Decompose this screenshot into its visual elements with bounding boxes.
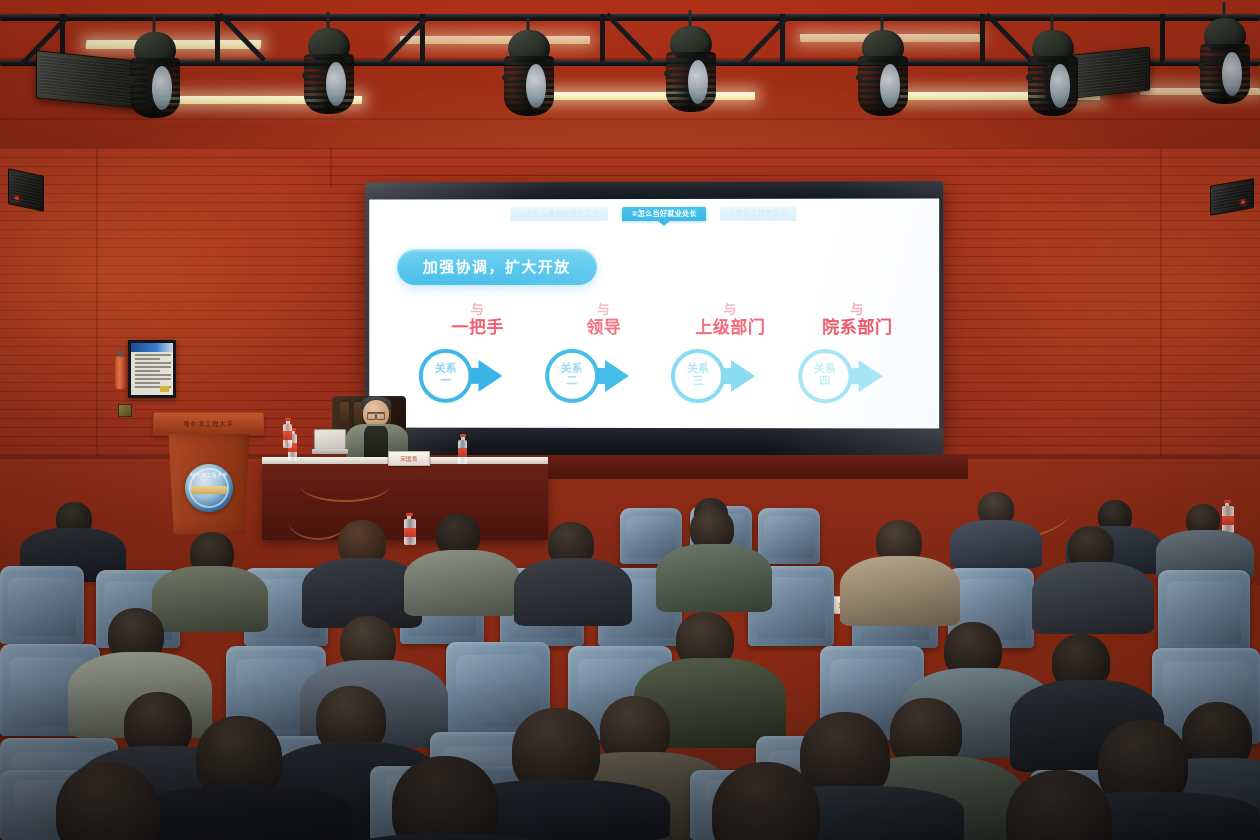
- auditorium-seat: [1158, 570, 1250, 652]
- audience-head-front: [392, 756, 498, 840]
- wall-speaker-left: [8, 168, 44, 212]
- projection-screen: ①为什么要做好就业工作 ②怎么当好就业处长 ③就业工作怎么干 加强协调，扩大开放…: [365, 181, 943, 458]
- lamp-lens: [1222, 52, 1242, 96]
- water-bottle: [458, 434, 467, 464]
- slide-tab-2-active: ②怎么当好就业处长: [622, 207, 705, 221]
- lamp-knob: [502, 74, 509, 81]
- audience-shoulders: [136, 786, 352, 840]
- column-target: 一把手: [415, 318, 541, 338]
- podium-text: 哈尔滨工程大学: [153, 419, 264, 428]
- column-target: 领导: [541, 318, 667, 338]
- node-row: 关系 一: [415, 345, 541, 407]
- auditorium-seat: [758, 508, 820, 564]
- presenter-glasses: [367, 412, 385, 417]
- column-target: 上级部门: [667, 318, 794, 338]
- lamp-knob: [1026, 74, 1033, 81]
- truss-post: [600, 14, 605, 62]
- notice-line: [135, 354, 171, 356]
- notice-line: [135, 374, 171, 376]
- slide-title-container: 加强协调，扩大开放: [397, 249, 597, 285]
- circle-label-top: 关系: [435, 364, 457, 376]
- slide-tab-strip: ①为什么要做好就业工作 ②怎么当好就业处长 ③就业工作怎么干: [369, 207, 939, 222]
- notice-board: [128, 340, 176, 398]
- wall-outlet-box: [118, 404, 132, 417]
- circle-label-bottom: 二: [566, 375, 577, 388]
- lamp-lens: [688, 60, 708, 104]
- column-prefix: 与: [415, 303, 541, 317]
- notice-line: [135, 378, 171, 380]
- audience-shoulders: [152, 566, 268, 632]
- circle-label-bottom: 四: [819, 376, 830, 389]
- notice-line: [135, 358, 160, 360]
- laptop-screen: [314, 429, 346, 450]
- auditorium-seat: [0, 566, 84, 644]
- audience-area: [0, 470, 1260, 840]
- audience-shoulders: [404, 550, 520, 616]
- audience-shoulders: [656, 544, 772, 612]
- relationship-column-3: 与 上级部门 关系 三: [667, 303, 794, 407]
- circle-label-bottom: 一: [440, 375, 451, 388]
- lamp-lens: [326, 62, 346, 106]
- water-bottle: [283, 418, 292, 448]
- relationship-circle-2: 关系 二: [545, 349, 599, 403]
- podium-top: 哈尔滨工程大学: [152, 412, 264, 435]
- audience-shoulders: [840, 556, 960, 626]
- column-prefix: 与: [541, 303, 667, 317]
- ceiling: [0, 0, 1260, 150]
- lamp-lens: [526, 64, 546, 108]
- stage-light: [1024, 30, 1080, 125]
- fire-extinguisher: [115, 356, 126, 389]
- stage-light: [126, 32, 182, 127]
- relationship-circle-4: 关系 四: [798, 349, 852, 403]
- presenter-laptop: [312, 429, 348, 455]
- ceiling-striplight: [540, 92, 755, 100]
- audience-shoulders: [950, 520, 1042, 568]
- circle-label-top: 关系: [687, 364, 709, 376]
- stage-light: [1196, 18, 1252, 113]
- lamp-knob: [856, 74, 863, 81]
- notice-stamp: [160, 386, 169, 392]
- bottle-label: [283, 431, 292, 440]
- lamp-lens: [152, 66, 172, 110]
- node-row: 关系 四: [794, 345, 921, 407]
- lamp-knob: [302, 72, 309, 79]
- wall-seam: [330, 148, 332, 188]
- node-row: 关系 二: [541, 345, 667, 407]
- speaker-led: [1241, 200, 1245, 205]
- relationship-column-4: 与 院系部门 关系 四: [794, 303, 921, 407]
- screen-bottom-frame: [365, 428, 943, 459]
- presenter-name-placard: 宋国良: [388, 451, 430, 466]
- ceiling-truss-chord: [0, 14, 1260, 21]
- column-prefix: 与: [667, 303, 794, 317]
- relationship-column-2: 与 领导 关系 二: [541, 303, 667, 407]
- truss-post: [215, 14, 220, 62]
- stage-light: [854, 30, 910, 125]
- lamp-knob: [664, 70, 671, 77]
- stage-light: [300, 28, 356, 123]
- notice-line: [135, 366, 171, 368]
- ceiling-striplight: [400, 36, 590, 44]
- stage-light: [662, 26, 718, 121]
- column-target: 院系部门: [794, 318, 921, 338]
- circle-label-bottom: 三: [693, 376, 704, 389]
- audience-shoulders: [514, 558, 632, 626]
- truss-post: [980, 14, 985, 62]
- notice-line: [135, 370, 160, 372]
- notice-header: [131, 343, 173, 352]
- notice-line: [135, 362, 171, 364]
- circle-label-top: 关系: [561, 364, 583, 376]
- speaker-led: [15, 196, 19, 201]
- screen-top-frame: [365, 181, 943, 199]
- truss-post: [1160, 14, 1165, 62]
- node-row: 关系 三: [667, 345, 794, 407]
- lamp-knob: [1198, 62, 1205, 69]
- slide-title: 加强协调，扩大开放: [397, 249, 597, 285]
- lamp-knob: [128, 76, 135, 83]
- relationship-columns: 与 一把手 关系 一: [415, 303, 921, 407]
- lamp-lens: [1050, 64, 1070, 108]
- bottle-label: [458, 448, 467, 457]
- column-prefix: 与: [794, 303, 921, 317]
- stage-light: [500, 30, 556, 125]
- circle-label-top: 关系: [814, 364, 836, 376]
- relationship-circle-3: 关系 三: [671, 349, 725, 403]
- relationship-column-1: 与 一把手 关系 一: [415, 303, 541, 407]
- screen-surface: ①为什么要做好就业工作 ②怎么当好就业处长 ③就业工作怎么干 加强协调，扩大开放…: [369, 198, 939, 428]
- audience-shoulders: [1032, 562, 1154, 634]
- presentation-slide: ①为什么要做好就业工作 ②怎么当好就业处长 ③就业工作怎么干 加强协调，扩大开放…: [369, 198, 939, 428]
- relationship-circle-1: 关系 一: [419, 349, 473, 403]
- slide-tab-1: ①为什么要做好就业工作: [510, 207, 608, 221]
- laptop-keyboard: [312, 449, 348, 454]
- slide-tab-3: ③就业工作怎么干: [720, 207, 797, 221]
- auditorium-photo: ①为什么要做好就业工作 ②怎么当好就业处长 ③就业工作怎么干 加强协调，扩大开放…: [0, 0, 1260, 840]
- lamp-lens: [880, 64, 900, 108]
- notice-line: [135, 382, 160, 384]
